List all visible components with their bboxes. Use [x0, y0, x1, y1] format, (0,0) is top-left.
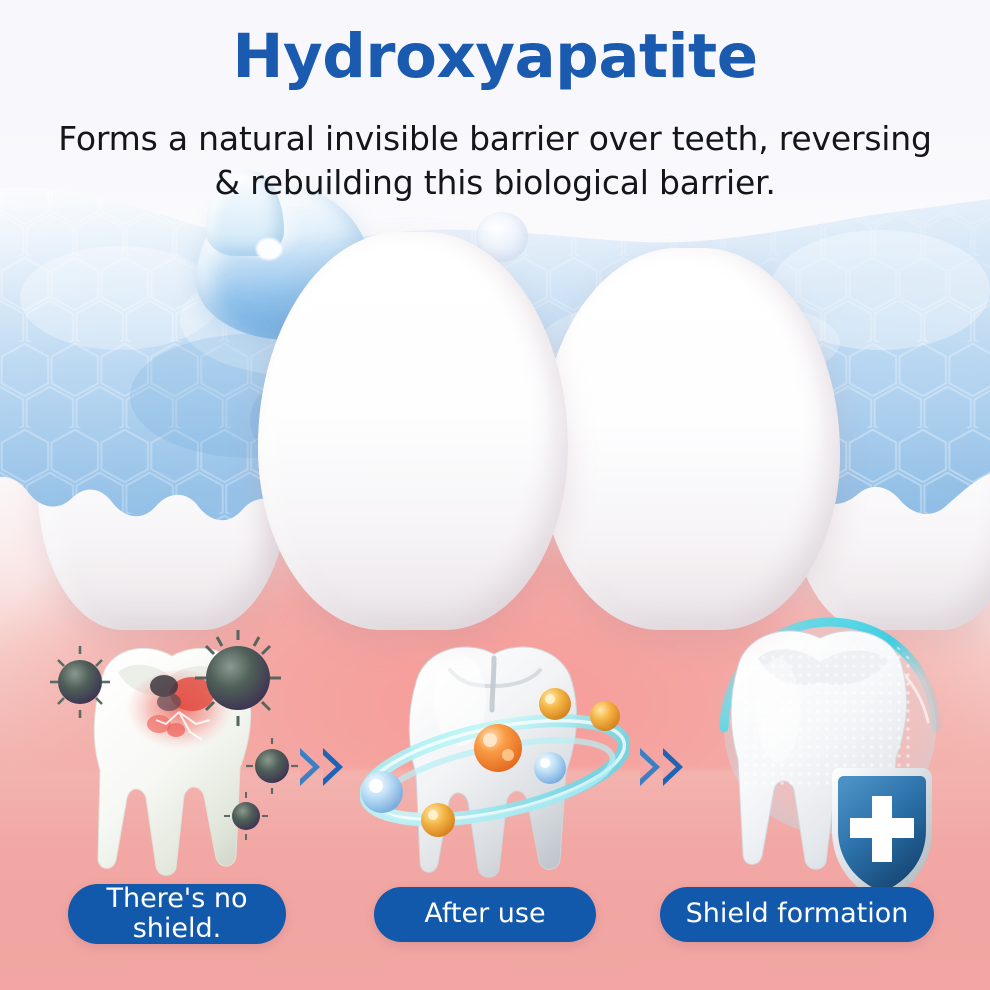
step-label-after[interactable]: Shield formation: [660, 887, 934, 942]
step-label-during[interactable]: After use: [374, 887, 596, 942]
arrow-before-to-during: [300, 748, 343, 786]
big-tooth-left-inner: [258, 232, 568, 630]
big-tooth-right-inner: [540, 248, 840, 630]
subtitle-line-2: & rebuilding this biological barrier.: [0, 161, 990, 205]
page-subtitle: Forms a natural invisible barrier over t…: [0, 117, 990, 204]
arrow-during-to-after: [640, 748, 683, 786]
step-icon-before: [40, 620, 310, 890]
poster-canvas: Hydroxyapatite Forms a natural invisible…: [0, 0, 990, 990]
gel-droplet-highlight: [256, 238, 282, 260]
chevron-right-icon: [323, 748, 343, 786]
step-icon-during: [360, 620, 630, 890]
step-icon-after: [680, 600, 970, 890]
chevron-right-icon: [300, 748, 320, 786]
chevron-right-icon: [640, 748, 660, 786]
step-label-before[interactable]: There's no shield.: [68, 884, 286, 944]
page-title: Hydroxyapatite: [0, 26, 990, 87]
chevron-right-icon: [663, 748, 683, 786]
subtitle-line-1: Forms a natural invisible barrier over t…: [0, 117, 990, 161]
